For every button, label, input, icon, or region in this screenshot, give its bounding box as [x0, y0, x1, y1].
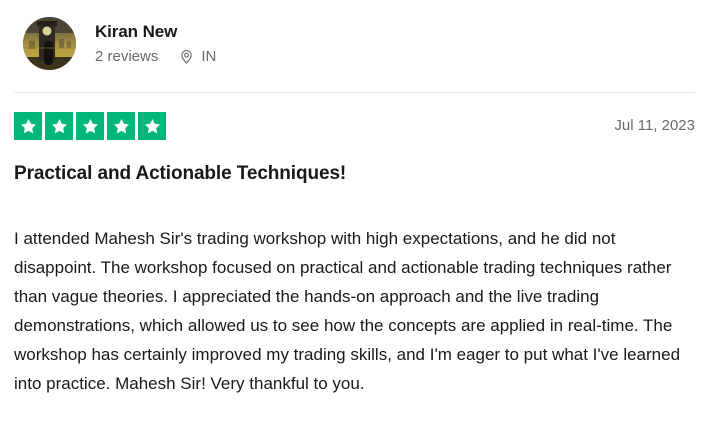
- rating-row: Jul 11, 2023: [14, 112, 695, 140]
- review-date: Jul 11, 2023: [614, 116, 695, 136]
- avatar-image: [23, 17, 76, 70]
- star-rating: [14, 112, 166, 140]
- review-title[interactable]: Practical and Actionable Techniques!: [14, 161, 695, 187]
- consumer-country-code: IN: [201, 47, 216, 67]
- star-icon: [76, 112, 104, 140]
- consumer-header: Kiran New 2 reviews IN: [0, 0, 709, 70]
- review-body-text: I attended Mahesh Sir's trading workshop…: [14, 224, 685, 398]
- header-divider: [14, 92, 695, 93]
- star-icon: [14, 112, 42, 140]
- review-card: Kiran New 2 reviews IN: [0, 0, 709, 437]
- avatar[interactable]: [23, 17, 76, 70]
- consumer-location: IN: [179, 47, 216, 67]
- consumer-info: Kiran New 2 reviews IN: [95, 21, 216, 67]
- star-icon: [107, 112, 135, 140]
- consumer-review-count: 2 reviews: [95, 47, 158, 67]
- star-icon: [138, 112, 166, 140]
- star-icon: [45, 112, 73, 140]
- consumer-name[interactable]: Kiran New: [95, 21, 216, 43]
- consumer-meta: 2 reviews IN: [95, 47, 216, 67]
- location-pin-icon: [179, 49, 194, 64]
